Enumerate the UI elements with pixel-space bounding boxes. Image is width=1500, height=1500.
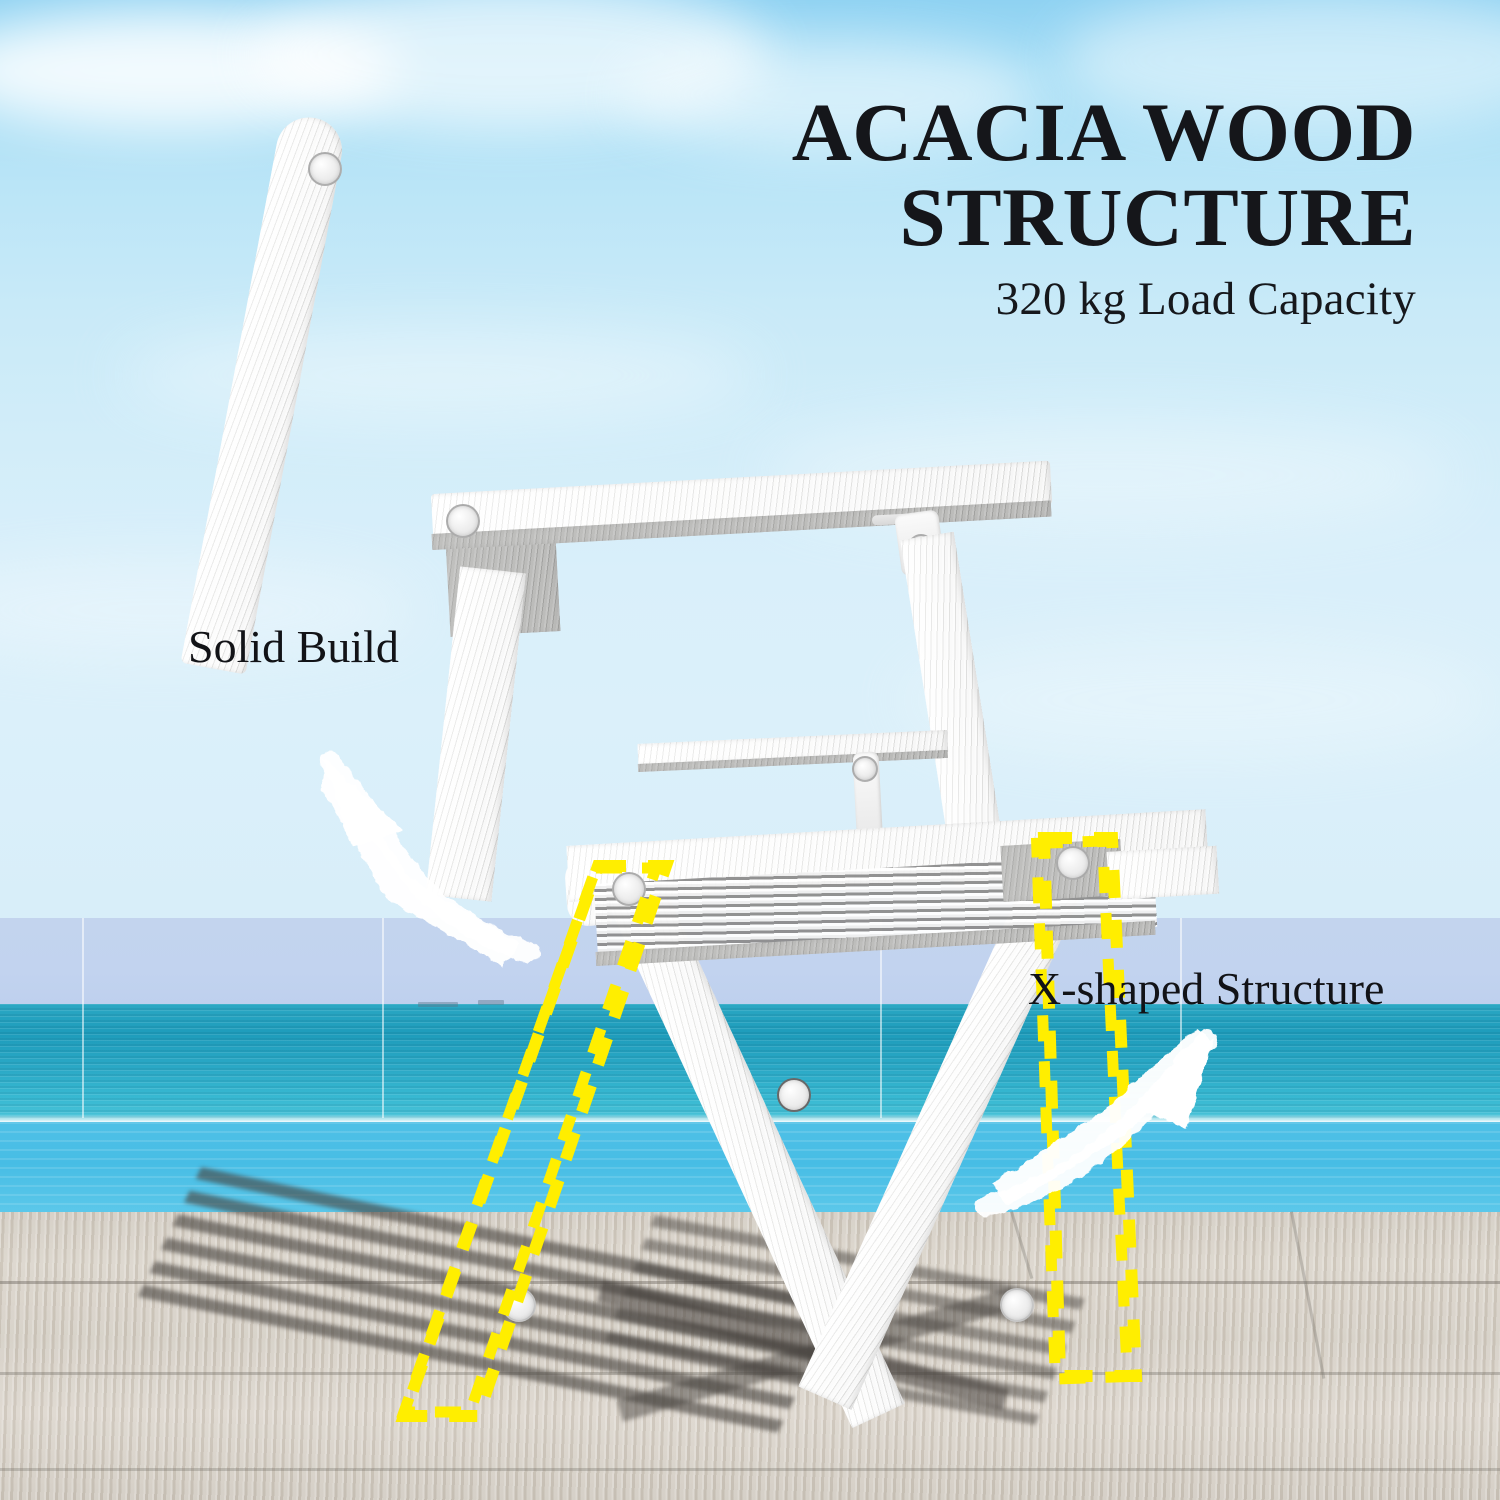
hinge-pivot-icon — [852, 756, 878, 782]
screw-cap-icon — [1000, 1288, 1034, 1322]
screw-cap-icon — [308, 152, 342, 186]
subheadline: 320 kg Load Capacity — [696, 272, 1416, 326]
chair-rear-post — [426, 567, 526, 902]
screw-cap-icon — [612, 872, 646, 906]
page-title: ACACIA WOOD STRUCTURE — [696, 90, 1416, 261]
screw-cap-icon — [1056, 846, 1090, 880]
chair-backrest-post — [181, 112, 348, 675]
callout-label-x-shaped-structure: X-shaped Structure — [1028, 962, 1384, 1015]
callout-label-solid-build: Solid Build — [188, 620, 399, 673]
chair-seat-right-end — [1107, 846, 1220, 900]
screw-cap-icon — [502, 1288, 536, 1322]
headline-line-1: ACACIA WOOD — [792, 86, 1416, 178]
headline-line-2: STRUCTURE — [696, 175, 1416, 260]
screw-cap-icon — [446, 504, 480, 538]
x-frame-center-pivot-icon — [777, 1078, 811, 1112]
product-feature-image: ACACIA WOOD STRUCTURE 320 kg Load Capaci… — [0, 0, 1500, 1500]
